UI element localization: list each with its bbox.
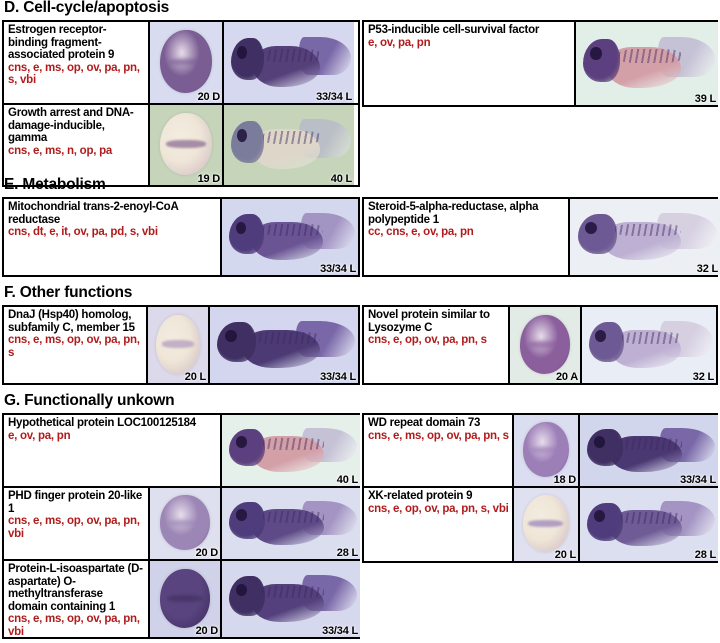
section-title-f: F. Other functions [2, 285, 132, 302]
embryo-panel: 33/34 L [580, 415, 718, 486]
expression-tags: cns, e, op, ov, pa, pn, s, vbi [368, 503, 509, 516]
gene-row: Steroid-5-alpha-reductase, alpha polypep… [364, 199, 716, 275]
expression-tags: e, ov, pa, pn [8, 430, 217, 443]
gene-table: DnaJ (Hsp40) homolog, subfamily C, membe… [2, 305, 360, 385]
gene-row: Estrogen receptor-binding fragment-assoc… [4, 22, 358, 105]
stage-label: 20 L [185, 371, 206, 383]
gene-label-cell: Hypothetical protein LOC100125184e, ov, … [4, 415, 222, 486]
gene-table: Hypothetical protein LOC100125184e, ov, … [2, 413, 360, 639]
expression-tags: cns, e, ms, op, ov, pa, pn, vbi [8, 515, 145, 540]
gene-name: P53-inducible cell-survival factor [368, 24, 571, 37]
expression-tags: cns, e, ms, op, ov, pa, pn, s [368, 430, 509, 443]
section-title-g: G. Functionally unkown [2, 393, 174, 410]
gene-label-cell: XK-related protein 9cns, e, op, ov, pa, … [364, 488, 514, 561]
gene-name: Hypothetical protein LOC100125184 [8, 417, 217, 430]
gene-name: Estrogen receptor-binding fragment-assoc… [8, 24, 145, 62]
gene-row: DnaJ (Hsp40) homolog, subfamily C, membe… [4, 307, 358, 383]
stage-label: 32 L [693, 371, 714, 383]
gene-name: Mitochondrial trans-2-enoyl-CoA reductas… [8, 201, 217, 226]
gene-name: Protein-L-isoaspartate (D-aspartate) O-m… [8, 563, 145, 613]
stage-label: 33/34 L [680, 474, 716, 486]
stage-label: 19 D [198, 173, 220, 185]
gene-row: PHD finger protein 20-like 1cns, e, ms, … [4, 488, 358, 561]
embryo-panel: 20 A [510, 307, 582, 383]
expression-tags: e, ov, pa, pn [368, 37, 571, 50]
gene-label-cell: P53-inducible cell-survival factore, ov,… [364, 22, 576, 105]
expression-tags: cns, e, ms, op, ov, pa, pn, s [8, 334, 143, 359]
stage-label: 33/34 L [320, 371, 356, 383]
gene-table: Mitochondrial trans-2-enoyl-CoA reductas… [2, 197, 360, 277]
embryo-panel: 20 L [148, 307, 210, 383]
gene-row: XK-related protein 9cns, e, op, ov, pa, … [364, 488, 716, 561]
gene-row: Growth arrest and DNA-damage-inducible, … [4, 105, 358, 185]
gene-label-cell: Novel protein similar to Lysozyme Ccns, … [364, 307, 510, 383]
embryo-panel: 20 D [150, 22, 224, 103]
expression-tags: cc, cns, e, ov, pa, pn [368, 226, 565, 239]
gene-label-cell: Estrogen receptor-binding fragment-assoc… [4, 22, 150, 103]
gene-row: WD repeat domain 73cns, e, ms, op, ov, p… [364, 415, 716, 488]
gene-label-cell: DnaJ (Hsp40) homolog, subfamily C, membe… [4, 307, 148, 383]
gene-row: Mitochondrial trans-2-enoyl-CoA reductas… [4, 199, 358, 275]
figure-panel: D. Cell-cycle/apoptosisEstrogen receptor… [0, 0, 720, 643]
gene-table: Novel protein similar to Lysozyme Ccns, … [362, 305, 718, 385]
expression-tags: cns, e, ms, op, ov, pa, pn, vbi [8, 613, 145, 637]
embryo-panel: 40 L [224, 105, 354, 185]
expression-tags: cns, e, ms, op, ov, pa, pn, s, vbi [8, 62, 145, 87]
gene-label-cell: PHD finger protein 20-like 1cns, e, ms, … [4, 488, 150, 559]
stage-label: 20 A [556, 371, 578, 383]
stage-label: 28 L [695, 549, 716, 561]
gene-table: Steroid-5-alpha-reductase, alpha polypep… [362, 197, 718, 277]
stage-label: 20 D [196, 547, 218, 559]
gene-label-cell: Protein-L-isoaspartate (D-aspartate) O-m… [4, 561, 150, 637]
gene-row: Protein-L-isoaspartate (D-aspartate) O-m… [4, 561, 358, 637]
stage-label: 20 L [555, 549, 576, 561]
embryo-panel: 28 L [222, 488, 360, 559]
gene-label-cell: WD repeat domain 73cns, e, ms, op, ov, p… [364, 415, 514, 486]
embryo-panel: 33/34 L [222, 561, 360, 637]
embryo-panel: 20 L [514, 488, 580, 561]
gene-label-cell: Steroid-5-alpha-reductase, alpha polypep… [364, 199, 570, 275]
stage-label: 33/34 L [322, 625, 358, 637]
stage-label: 32 L [697, 263, 718, 275]
embryo-panel: 33/34 L [222, 199, 358, 275]
gene-name: XK-related protein 9 [368, 490, 509, 503]
gene-table: P53-inducible cell-survival factore, ov,… [362, 20, 718, 107]
gene-row: P53-inducible cell-survival factore, ov,… [364, 22, 716, 105]
stage-label: 33/34 L [316, 91, 352, 103]
stage-label: 40 L [337, 474, 358, 486]
embryo-panel: 28 L [580, 488, 718, 561]
gene-name: DnaJ (Hsp40) homolog, subfamily C, membe… [8, 309, 143, 334]
stage-label: 20 D [196, 625, 218, 637]
embryo-panel: 20 D [150, 488, 222, 559]
gene-row: Novel protein similar to Lysozyme Ccns, … [364, 307, 716, 383]
expression-tags: cns, e, op, ov, pa, pn, s [368, 334, 505, 347]
gene-table: WD repeat domain 73cns, e, ms, op, ov, p… [362, 413, 718, 563]
gene-row: Hypothetical protein LOC100125184e, ov, … [4, 415, 358, 488]
embryo-panel: 39 L [576, 22, 718, 105]
embryo-panel: 32 L [582, 307, 716, 383]
section-title-e: E. Metabolism [2, 177, 106, 194]
stage-label: 20 D [198, 91, 220, 103]
stage-label: 28 L [337, 547, 358, 559]
embryo-panel: 20 D [150, 561, 222, 637]
embryo-panel: 33/34 L [210, 307, 358, 383]
stage-label: 40 L [331, 173, 352, 185]
expression-tags: cns, dt, e, it, ov, pa, pd, s, vbi [8, 226, 217, 239]
gene-name: Growth arrest and DNA-damage-inducible, … [8, 107, 145, 145]
embryo-panel: 33/34 L [224, 22, 354, 103]
gene-label-cell: Growth arrest and DNA-damage-inducible, … [4, 105, 150, 185]
gene-table: Estrogen receptor-binding fragment-assoc… [2, 20, 360, 187]
stage-label: 18 D [554, 474, 576, 486]
gene-name: Novel protein similar to Lysozyme C [368, 309, 505, 334]
gene-name: PHD finger protein 20-like 1 [8, 490, 145, 515]
embryo-panel: 18 D [514, 415, 580, 486]
embryo-panel: 32 L [570, 199, 720, 275]
embryo-panel: 19 D [150, 105, 224, 185]
stage-label: 33/34 L [320, 263, 356, 275]
stage-label: 39 L [695, 93, 716, 105]
section-title-d: D. Cell-cycle/apoptosis [2, 0, 169, 17]
embryo-panel: 40 L [222, 415, 360, 486]
gene-name: Steroid-5-alpha-reductase, alpha polypep… [368, 201, 565, 226]
gene-label-cell: Mitochondrial trans-2-enoyl-CoA reductas… [4, 199, 222, 275]
gene-name: WD repeat domain 73 [368, 417, 509, 430]
expression-tags: cns, e, ms, n, op, pa [8, 145, 145, 158]
